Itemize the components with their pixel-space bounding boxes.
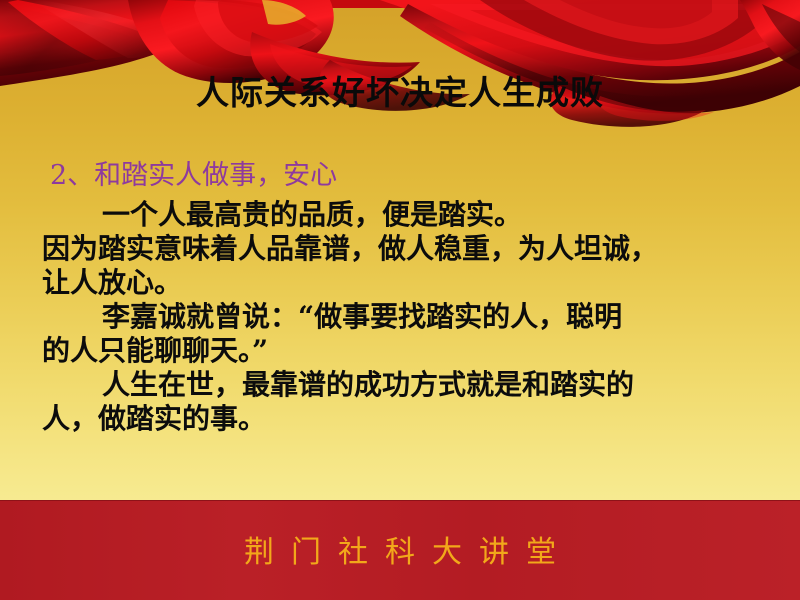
- slide-body: 2、和踏实人做事，安心 一个人最高贵的品质，便是踏实。 因为踏实意味着人品靠谱，…: [42, 158, 762, 436]
- section-subheading: 2、和踏实人做事，安心: [50, 158, 762, 194]
- body-line: 因为踏实意味着人品靠谱，做人稳重，为人坦诚，: [42, 232, 762, 266]
- body-line: 人生在世，最靠谱的成功方式就是和踏实的: [42, 368, 762, 402]
- slide-title: 人际关系好坏决定人生成败: [0, 73, 800, 113]
- footer-band: 荆门社科大讲堂: [0, 500, 800, 600]
- body-line: 让人放心。: [42, 266, 762, 300]
- body-line: 李嘉诚就曾说：“做事要找踏实的人，聪明: [42, 300, 762, 334]
- body-line: 一个人最高贵的品质，便是踏实。: [42, 198, 762, 232]
- footer-title: 荆门社科大讲堂: [0, 527, 800, 571]
- slide-canvas: 人际关系好坏决定人生成败 2、和踏实人做事，安心 一个人最高贵的品质，便是踏实。…: [0, 0, 800, 600]
- body-line: 人，做踏实的事。: [42, 402, 762, 436]
- body-line: 的人只能聊聊天。”: [42, 334, 762, 368]
